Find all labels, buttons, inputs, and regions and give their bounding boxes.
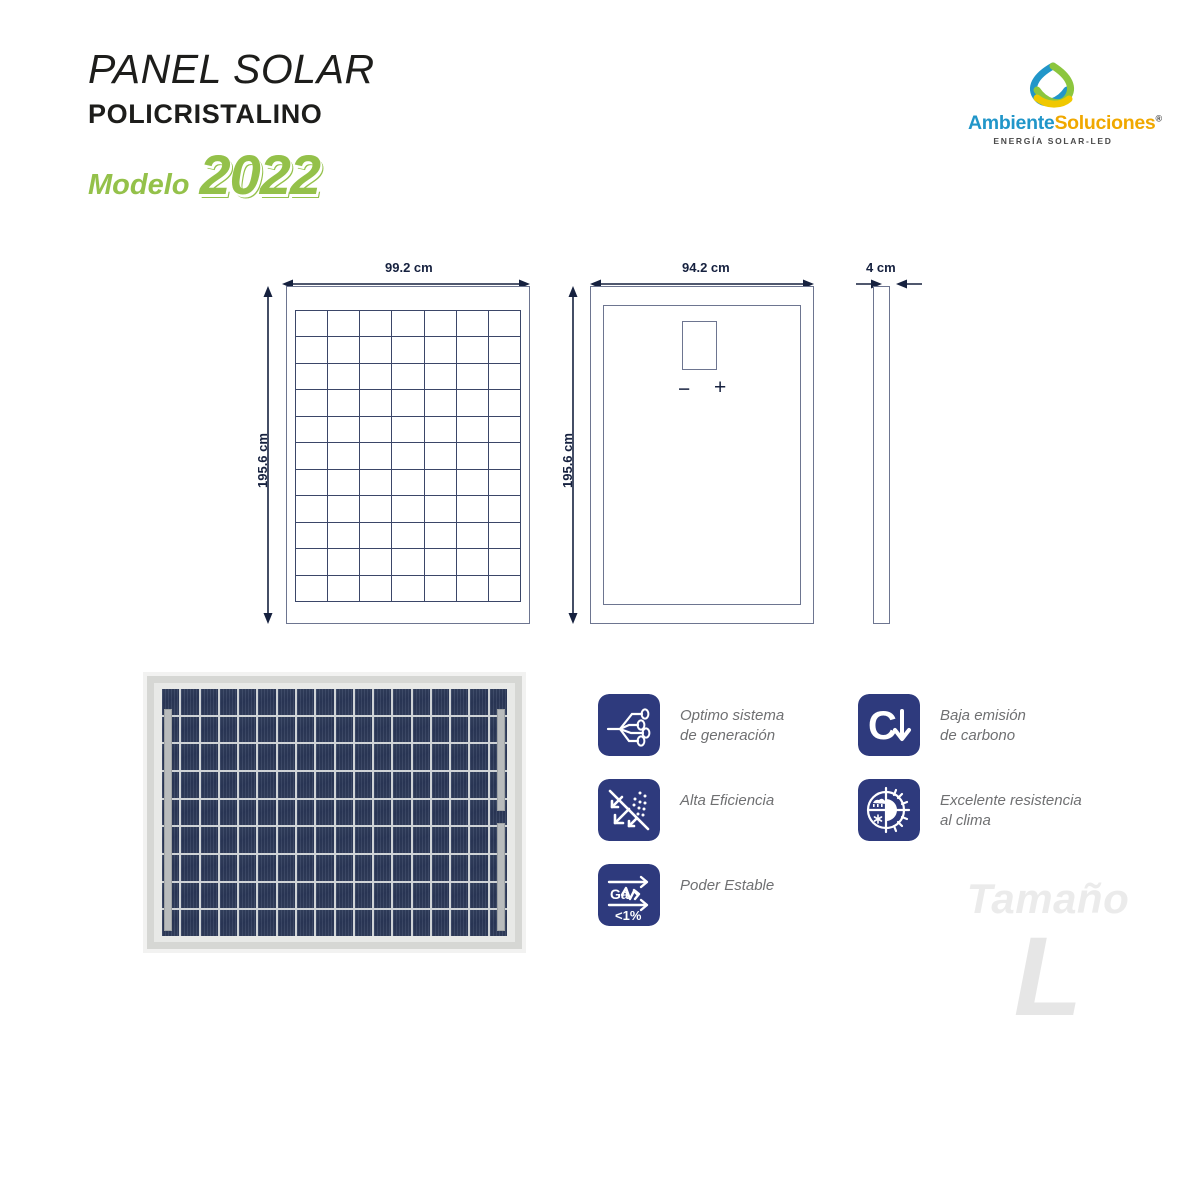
cell: [296, 523, 328, 549]
photo-cell: [239, 772, 256, 798]
cell: [392, 576, 424, 602]
photo-cell: [374, 689, 391, 715]
cell: [392, 417, 424, 443]
photo-cell: [451, 827, 468, 853]
photo-cell: [355, 883, 372, 909]
terminal-positive: +: [714, 377, 726, 398]
photo-cell: [258, 717, 275, 743]
cell: [425, 443, 457, 469]
cell: [296, 364, 328, 390]
photo-cell: [316, 883, 333, 909]
cell: [296, 496, 328, 522]
cell: [360, 576, 392, 602]
cell: [457, 470, 489, 496]
busbar-right-top: [497, 709, 505, 811]
cell: [360, 470, 392, 496]
header-title-block: PANEL SOLAR POLICRISTALINO Modelo 2022: [88, 48, 375, 207]
photo-cell: [316, 910, 333, 936]
feature-column-right: C Baja emisión de carbono: [858, 694, 1082, 864]
photo-cell: [432, 883, 449, 909]
photo-cell: [258, 800, 275, 826]
photo-cell: [278, 910, 295, 936]
photo-cell: [413, 855, 430, 881]
cell: [296, 549, 328, 575]
photo-cell: [239, 855, 256, 881]
cell: [457, 576, 489, 602]
cell: [328, 417, 360, 443]
photo-cell: [393, 855, 410, 881]
photo-cell: [451, 800, 468, 826]
photo-cell: [393, 910, 410, 936]
photo-cell: [393, 744, 410, 770]
photo-cell: [258, 910, 275, 936]
cell: [425, 364, 457, 390]
feature-alta-eficiencia: Alta Eficiencia: [598, 779, 784, 841]
photo-cell: [220, 744, 237, 770]
photo-cell: [239, 800, 256, 826]
photo-cell: [297, 800, 314, 826]
logo-wordmark: AmbienteSoluciones®: [968, 112, 1138, 135]
cell: [457, 496, 489, 522]
photo-cell: [413, 772, 430, 798]
feature-label: Poder Estable: [680, 876, 774, 896]
feature-label-line1: Baja emisión: [940, 706, 1026, 726]
cell: [489, 417, 521, 443]
photo-cell: [316, 855, 333, 881]
photo-cell: [316, 744, 333, 770]
side-view-edge: [873, 286, 890, 624]
photo-cell: [278, 883, 295, 909]
cell: [425, 576, 457, 602]
photo-cell: [432, 772, 449, 798]
cell: [489, 576, 521, 602]
photo-cell: [432, 827, 449, 853]
cell: [489, 311, 521, 337]
front-height-arrow: [262, 286, 274, 624]
photo-cell: [393, 800, 410, 826]
photo-cell: [336, 883, 353, 909]
front-panel-cell-grid: [295, 310, 521, 602]
feature-optimo-sistema: Optimo sistema de generación: [598, 694, 784, 756]
cell: [296, 311, 328, 337]
cell: [296, 337, 328, 363]
cell: [392, 549, 424, 575]
model-year: 2022: [200, 142, 321, 207]
technical-drawings: 99.2 cm 195.6 cm 94.2 cm 195.6 cm: [0, 248, 1200, 648]
trefoil-knot-logo-icon: [1017, 58, 1089, 114]
photo-cell: [201, 855, 218, 881]
cell: [296, 390, 328, 416]
photo-cell: [432, 855, 449, 881]
terminal-negative: −: [678, 379, 690, 400]
photo-cell: [239, 827, 256, 853]
photo-cell: [201, 800, 218, 826]
photo-cell: [470, 883, 487, 909]
photo-cell: [470, 717, 487, 743]
photo-cell: [355, 910, 372, 936]
cell: [425, 417, 457, 443]
feature-label-line1: Poder Estable: [680, 876, 774, 896]
cell: [392, 311, 424, 337]
photo-cell: [374, 800, 391, 826]
photo-cell: [220, 827, 237, 853]
diagonal-efficiency-icon: [598, 779, 660, 841]
photo-cell: [451, 717, 468, 743]
icon-text-c: C: [868, 704, 897, 748]
photo-cell: [413, 827, 430, 853]
photo-cell: [220, 689, 237, 715]
photo-cell: [355, 800, 372, 826]
photo-cell: [432, 689, 449, 715]
photo-cell: [393, 689, 410, 715]
photo-cell: [374, 744, 391, 770]
feature-label-line1: Optimo sistema: [680, 706, 784, 726]
photo-cell: [201, 772, 218, 798]
photo-cell: [181, 744, 198, 770]
photo-cell: [239, 689, 256, 715]
cell: [360, 443, 392, 469]
photo-cell: [393, 827, 410, 853]
photo-cell: [181, 827, 198, 853]
feature-resistencia-clima: Excelente resistencia al clima: [858, 779, 1082, 841]
photo-cell: [278, 689, 295, 715]
cell: [360, 337, 392, 363]
photo-cell: [470, 800, 487, 826]
photo-cell: [278, 800, 295, 826]
photo-cell: [297, 717, 314, 743]
photo-cell: [201, 689, 218, 715]
photo-cell: [393, 772, 410, 798]
photo-cell: [316, 689, 333, 715]
cell: [328, 496, 360, 522]
photo-cell: [470, 855, 487, 881]
cell: [489, 390, 521, 416]
cell: [489, 470, 521, 496]
photo-cell: [374, 855, 391, 881]
photo-cell: [258, 744, 275, 770]
photo-cell: [220, 910, 237, 936]
front-width-label: 99.2 cm: [385, 260, 433, 275]
cell: [296, 470, 328, 496]
feature-label-line2: de generación: [680, 726, 784, 746]
photo-cell: [181, 910, 198, 936]
photo-cell: [413, 689, 430, 715]
stable-power-ga-icon: Ga <1%: [598, 864, 660, 926]
feature-poder-estable: Ga <1% Poder Estable: [598, 864, 784, 926]
busbar-right-bottom: [497, 823, 505, 931]
photo-cell: [181, 689, 198, 715]
photo-cell: [239, 717, 256, 743]
model-line: Modelo 2022: [88, 142, 375, 207]
cell: [489, 337, 521, 363]
cell: [457, 311, 489, 337]
photo-cell: [470, 827, 487, 853]
cell: [457, 364, 489, 390]
cell: [457, 523, 489, 549]
cell: [392, 364, 424, 390]
photo-cell: [393, 717, 410, 743]
cell: [392, 337, 424, 363]
cell: [328, 337, 360, 363]
photo-cell: [355, 772, 372, 798]
photo-cell: [336, 855, 353, 881]
photo-cell: [201, 910, 218, 936]
photo-cell: [297, 855, 314, 881]
photo-cell: [220, 772, 237, 798]
photo-cell: [470, 910, 487, 936]
photo-cell: [278, 717, 295, 743]
logo-tagline: ENERGÍA SOLAR-LED: [968, 136, 1138, 146]
photo-cell: [220, 855, 237, 881]
photo-cell: [181, 883, 198, 909]
photo-cell: [258, 689, 275, 715]
photo-cell: [355, 689, 372, 715]
photo-cell: [278, 744, 295, 770]
photo-cell: [432, 910, 449, 936]
cell: [457, 443, 489, 469]
cell: [457, 390, 489, 416]
photo-cell: [413, 883, 430, 909]
page-title: PANEL SOLAR: [88, 48, 375, 91]
logo-word-soluciones: Soluciones: [1054, 112, 1155, 134]
photo-cell: [413, 744, 430, 770]
cell: [296, 443, 328, 469]
photo-cell: [336, 772, 353, 798]
photo-cell: [239, 910, 256, 936]
photo-cell: [201, 744, 218, 770]
photo-cell: [413, 717, 430, 743]
feature-label: Excelente resistencia al clima: [940, 791, 1082, 832]
icon-text-percent: <1%: [615, 908, 642, 923]
busbar-left: [164, 709, 172, 931]
photo-cell: [413, 910, 430, 936]
feature-label-line2: al clima: [940, 811, 1082, 831]
photo-cell: [451, 883, 468, 909]
cell: [296, 576, 328, 602]
cell: [328, 390, 360, 416]
cell: [328, 443, 360, 469]
feature-label-line1: Excelente resistencia: [940, 791, 1082, 811]
panel-photo-cell-grid: [162, 689, 507, 936]
cell: [489, 549, 521, 575]
photo-cell: [374, 772, 391, 798]
cell: [392, 470, 424, 496]
photo-cell: [297, 827, 314, 853]
feature-label-line2: de carbono: [940, 726, 1026, 746]
cell: [328, 364, 360, 390]
photo-cell: [355, 855, 372, 881]
cell: [425, 549, 457, 575]
photo-cell: [181, 800, 198, 826]
photo-cell: [451, 855, 468, 881]
cell: [360, 364, 392, 390]
photo-cell: [316, 717, 333, 743]
cell: [360, 390, 392, 416]
photo-cell: [239, 883, 256, 909]
photo-cell: [316, 827, 333, 853]
panel-photo-frame: [147, 676, 522, 949]
photo-cell: [201, 827, 218, 853]
feature-baja-emision-carbono: C Baja emisión de carbono: [858, 694, 1082, 756]
cell: [489, 443, 521, 469]
size-badge: Tamaño L: [948, 878, 1148, 1030]
size-badge-value: L: [948, 924, 1148, 1030]
cell: [425, 311, 457, 337]
cell: [328, 549, 360, 575]
photo-cell: [355, 827, 372, 853]
photo-cell: [451, 744, 468, 770]
photo-cell: [451, 772, 468, 798]
cell: [328, 523, 360, 549]
photo-cell: [451, 910, 468, 936]
cell: [489, 496, 521, 522]
cell: [489, 523, 521, 549]
photo-cell: [220, 717, 237, 743]
cell: [392, 523, 424, 549]
cell: [392, 443, 424, 469]
photo-cell: [470, 744, 487, 770]
photo-cell: [336, 910, 353, 936]
cell: [392, 390, 424, 416]
circuit-branching-icon: [598, 694, 660, 756]
cell: [296, 417, 328, 443]
cell: [328, 470, 360, 496]
cell: [457, 337, 489, 363]
cell: [425, 523, 457, 549]
photo-cell: [470, 689, 487, 715]
photo-cell: [258, 855, 275, 881]
photo-cell: [278, 855, 295, 881]
photo-cell: [181, 855, 198, 881]
photo-cell: [258, 827, 275, 853]
photo-cell: [432, 717, 449, 743]
photo-cell: [336, 744, 353, 770]
brand-logo: AmbienteSoluciones® ENERGÍA SOLAR-LED: [968, 58, 1138, 146]
cell: [360, 549, 392, 575]
photo-cell: [316, 772, 333, 798]
cell: [425, 337, 457, 363]
cell: [360, 417, 392, 443]
feature-label-line1: Alta Eficiencia: [680, 791, 774, 811]
photo-cell: [297, 772, 314, 798]
cell: [457, 417, 489, 443]
back-width-label: 94.2 cm: [682, 260, 730, 275]
cell: [457, 549, 489, 575]
photo-cell: [297, 744, 314, 770]
photo-cell: [297, 689, 314, 715]
registered-mark: ®: [1155, 114, 1161, 124]
photo-cell: [336, 800, 353, 826]
feature-column-left: Optimo sistema de generación: [598, 694, 784, 949]
photo-cell: [336, 717, 353, 743]
photo-cell: [181, 772, 198, 798]
photo-cell: [355, 744, 372, 770]
cell: [328, 311, 360, 337]
feature-label: Alta Eficiencia: [680, 791, 774, 811]
cell: [328, 576, 360, 602]
photo-cell: [201, 883, 218, 909]
cell: [360, 311, 392, 337]
photo-cell: [181, 717, 198, 743]
product-subtitle: POLICRISTALINO: [88, 98, 375, 132]
feature-label: Baja emisión de carbono: [940, 706, 1026, 747]
photo-cell: [336, 689, 353, 715]
cell: [392, 496, 424, 522]
photo-cell: [316, 800, 333, 826]
icon-text-ga: Ga: [610, 886, 629, 902]
photo-cell: [413, 800, 430, 826]
photo-cell: [470, 772, 487, 798]
photo-cell: [451, 689, 468, 715]
photo-cell: [258, 883, 275, 909]
carbon-down-arrow-icon: C: [858, 694, 920, 756]
cell: [360, 523, 392, 549]
photo-cell: [432, 800, 449, 826]
photo-cell: [201, 717, 218, 743]
photo-cell: [278, 827, 295, 853]
photo-cell: [239, 744, 256, 770]
polycrystalline-solar-panel-photo: [143, 672, 526, 953]
photo-cell: [374, 827, 391, 853]
photo-cell: [297, 910, 314, 936]
photo-cell: [374, 883, 391, 909]
junction-box: [682, 321, 717, 370]
feature-label: Optimo sistema de generación: [680, 706, 784, 747]
cell: [425, 390, 457, 416]
photo-cell: [374, 910, 391, 936]
photo-cell: [220, 800, 237, 826]
photo-cell: [220, 883, 237, 909]
photo-cell: [374, 717, 391, 743]
photo-cell: [297, 883, 314, 909]
photo-cell: [258, 772, 275, 798]
cell: [360, 496, 392, 522]
photo-cell: [336, 827, 353, 853]
photo-cell: [432, 744, 449, 770]
cell: [425, 470, 457, 496]
back-height-arrow: [567, 286, 579, 624]
weather-resistance-icon: [858, 779, 920, 841]
cell: [425, 496, 457, 522]
photo-cell: [355, 717, 372, 743]
logo-word-ambiente: Ambiente: [968, 112, 1054, 134]
cell: [489, 364, 521, 390]
photo-cell: [393, 883, 410, 909]
model-word: Modelo: [88, 169, 190, 202]
photo-cell: [278, 772, 295, 798]
side-thickness-label: 4 cm: [866, 260, 896, 275]
